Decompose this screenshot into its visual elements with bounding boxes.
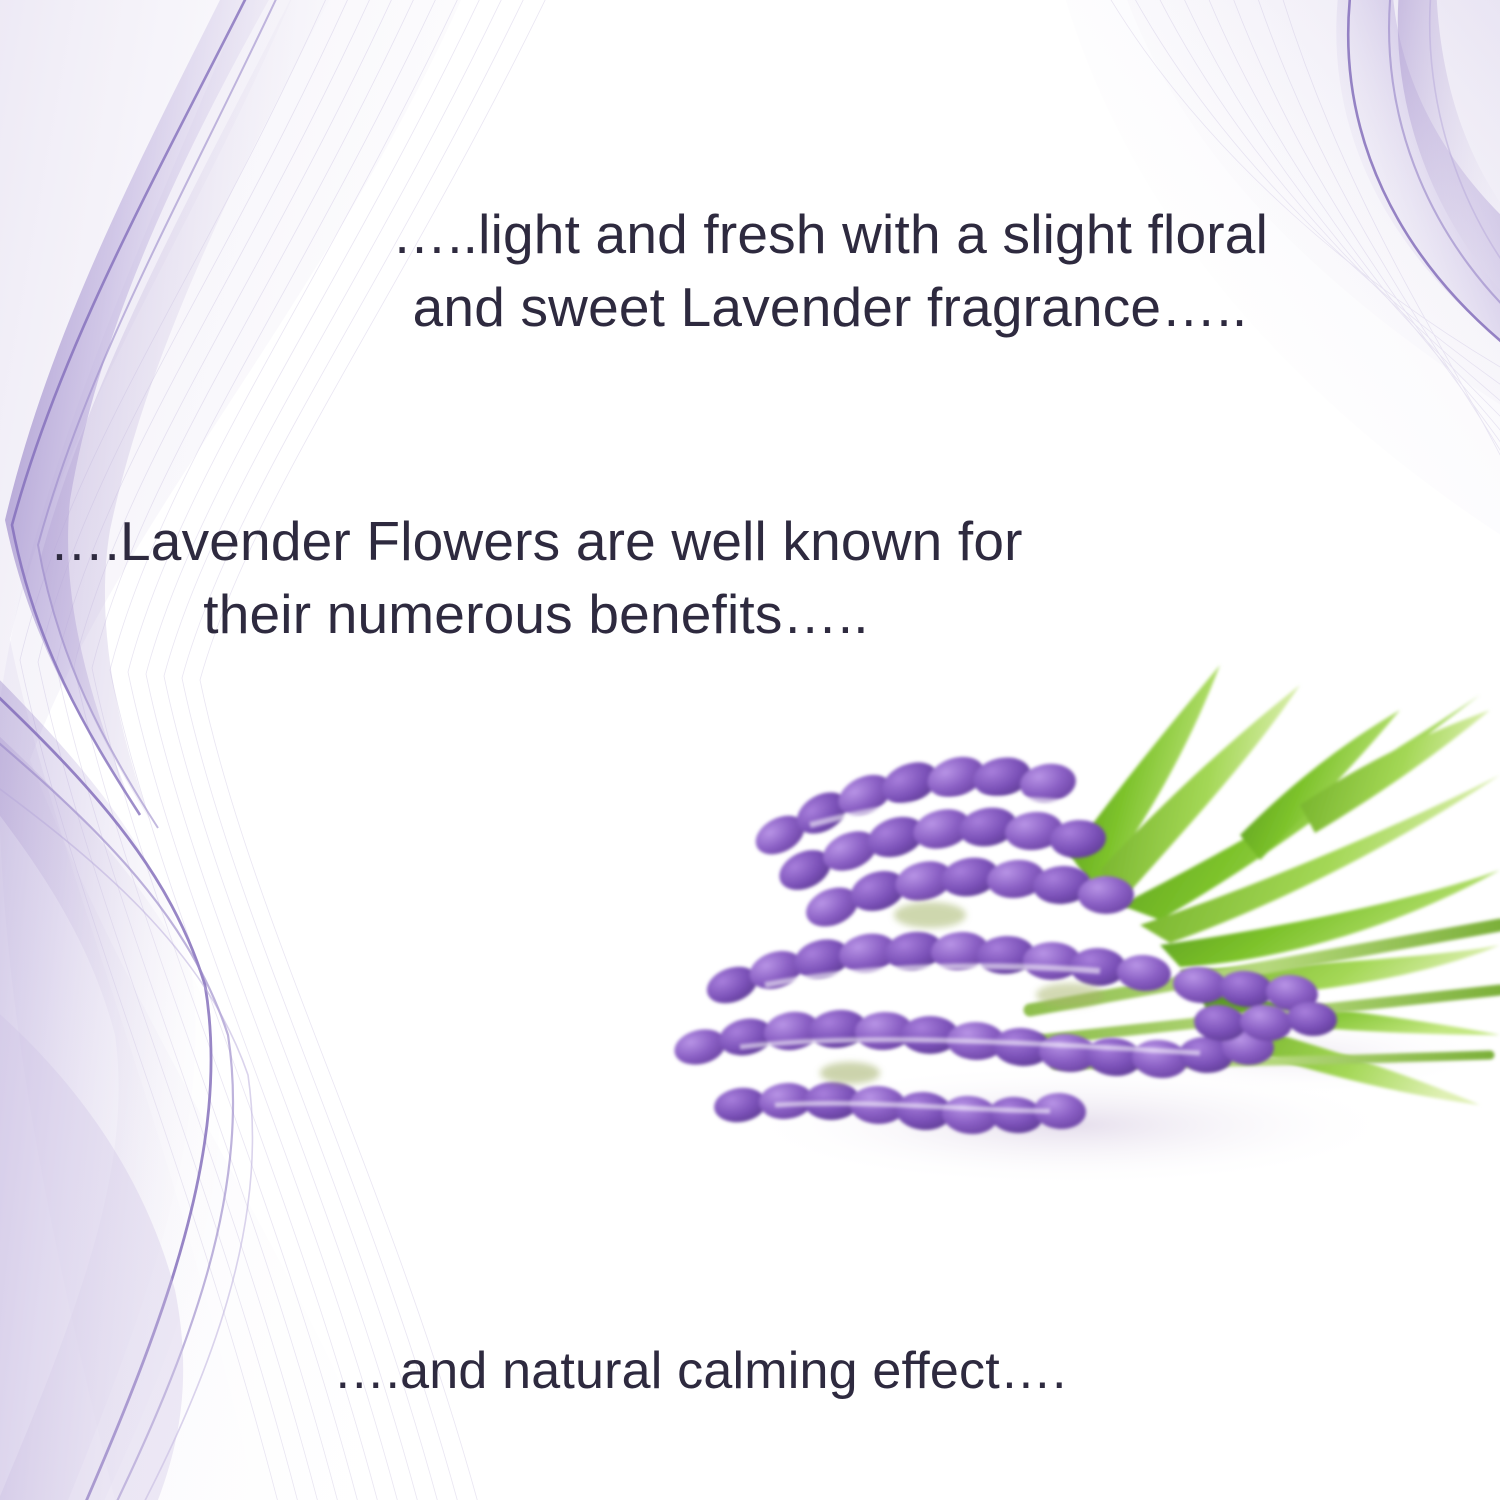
tagline-fragrance: …..light and fresh with a slight floral … (330, 198, 1330, 343)
lavender-sprig-photo (600, 655, 1500, 1255)
tagline-calming-effect: ….and natural calming effect…. (280, 1337, 1120, 1406)
tagline-benefits: ….Lavender Flowers are well known for th… (36, 505, 1036, 650)
product-banner-page: …..light and fresh with a slight floral … (0, 0, 1500, 1500)
